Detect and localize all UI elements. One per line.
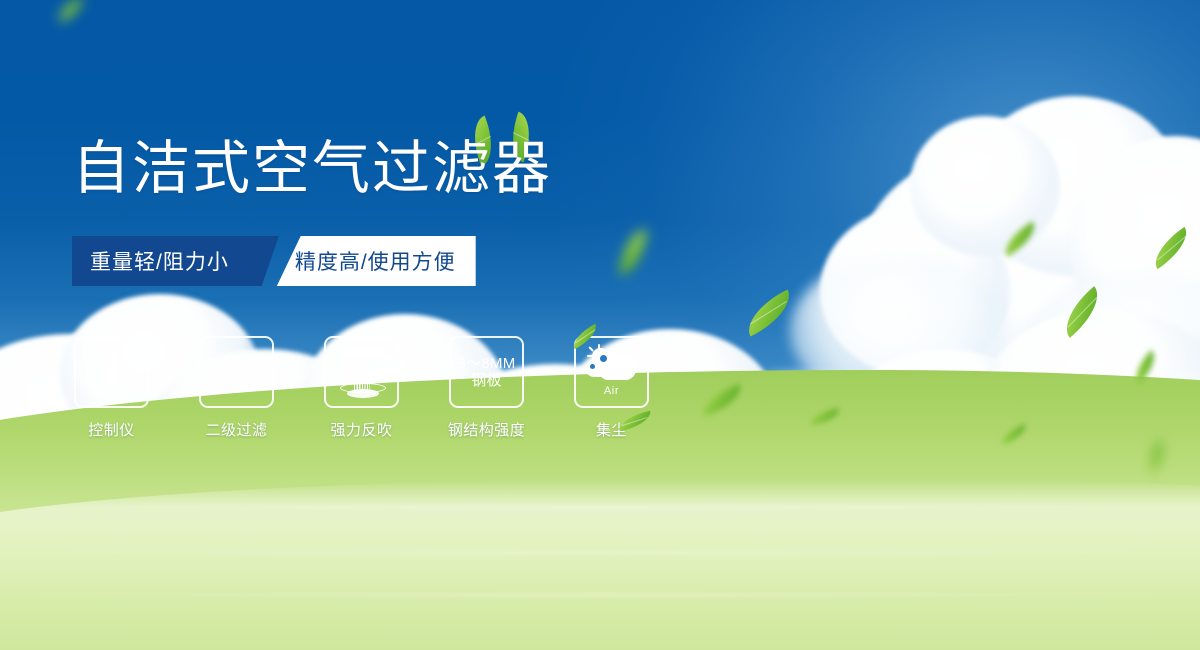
filter-cartridge-icon — [340, 347, 384, 397]
feature-item-steel-strength[interactable]: 3～8MM 钢板 钢结构强度 — [449, 336, 524, 440]
pressure-value: 0.6～0.8 — [207, 355, 266, 372]
steel-plate-text-icon: 3～8MM 钢板 — [457, 355, 515, 389]
pressure-text-icon: 0.6～0.8 MPA — [207, 355, 266, 389]
feature-label: 钢结构强度 — [448, 419, 526, 440]
feature-item-secondary-filter[interactable]: 0.6～0.8 MPA 二级过滤 — [199, 336, 274, 440]
air-cloud-icon — [586, 348, 638, 384]
feature-icon-box: Air — [574, 336, 649, 408]
feature-icon-box: 3～8MM 钢板 — [449, 336, 524, 408]
dial-off-label: OFF — [127, 384, 139, 390]
subtitle-left-text: 重量轻/阻力小 — [72, 236, 253, 286]
feature-label: 集尘 — [596, 419, 627, 440]
subtitle-divider-wedge — [253, 236, 279, 286]
page-title: 自洁式空气过滤器 — [72, 140, 552, 198]
subtitle-right-text: 精度高/使用方便 — [277, 236, 476, 286]
sky-background — [0, 0, 1200, 650]
feature-icon-box — [324, 336, 399, 408]
feature-label: 二级过滤 — [205, 419, 267, 440]
steel-thickness: 3～8MM — [457, 355, 515, 372]
subtitle-bar: 重量轻/阻力小 精度高/使用方便 — [72, 236, 476, 286]
feature-icon-box: 0.6～0.8 MPA — [199, 336, 274, 408]
pressure-unit: MPA — [207, 372, 266, 389]
feature-icon-box: NO OFF — [74, 336, 149, 408]
control-dial-icon: NO OFF — [86, 348, 138, 396]
dial-pointer — [107, 355, 117, 388]
product-hero-banner: 自洁式空气过滤器 重量轻/阻力小 精度高/使用方便 — [0, 0, 1200, 650]
feature-item-dust-collection[interactable]: Air 集尘 — [574, 336, 649, 440]
feature-label: 强力反吹 — [330, 419, 392, 440]
steel-material: 钢板 — [457, 372, 515, 389]
air-label: Air — [604, 385, 619, 397]
feature-item-control-dial[interactable]: NO OFF 控制仪 — [74, 336, 149, 440]
feature-label: 控制仪 — [88, 419, 135, 440]
dial-on-label: NO — [85, 371, 94, 377]
feature-list: NO OFF 控制仪 0.6～0.8 MPA 二级过滤 — [74, 336, 649, 440]
feature-item-backblow[interactable]: 强力反吹 — [324, 336, 399, 440]
